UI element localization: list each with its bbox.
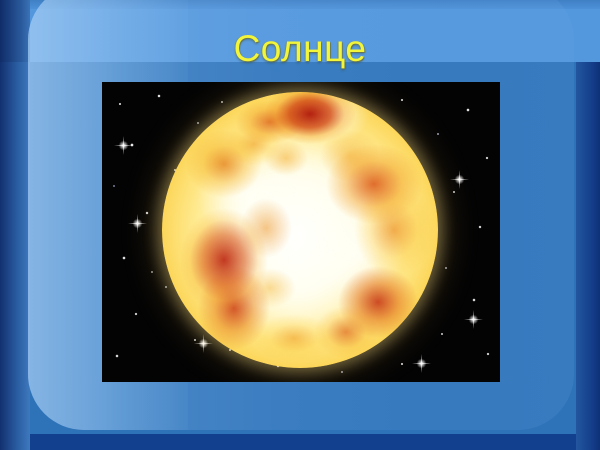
bright-star-icon <box>468 314 479 325</box>
bright-star-icon <box>132 218 143 229</box>
background-bottom-strip <box>0 434 600 450</box>
sun-photograph <box>102 82 500 382</box>
presentation-slide: Солнце <box>0 0 600 450</box>
sun-disc <box>162 92 438 368</box>
background-right-edge <box>576 62 600 450</box>
bright-star-icon <box>118 140 129 151</box>
page-title: Солнце <box>0 27 600 71</box>
bright-star-icon <box>454 174 465 185</box>
bright-star-icon <box>416 358 427 369</box>
sun-limb-rim <box>162 92 438 368</box>
bright-star-icon <box>198 338 209 349</box>
